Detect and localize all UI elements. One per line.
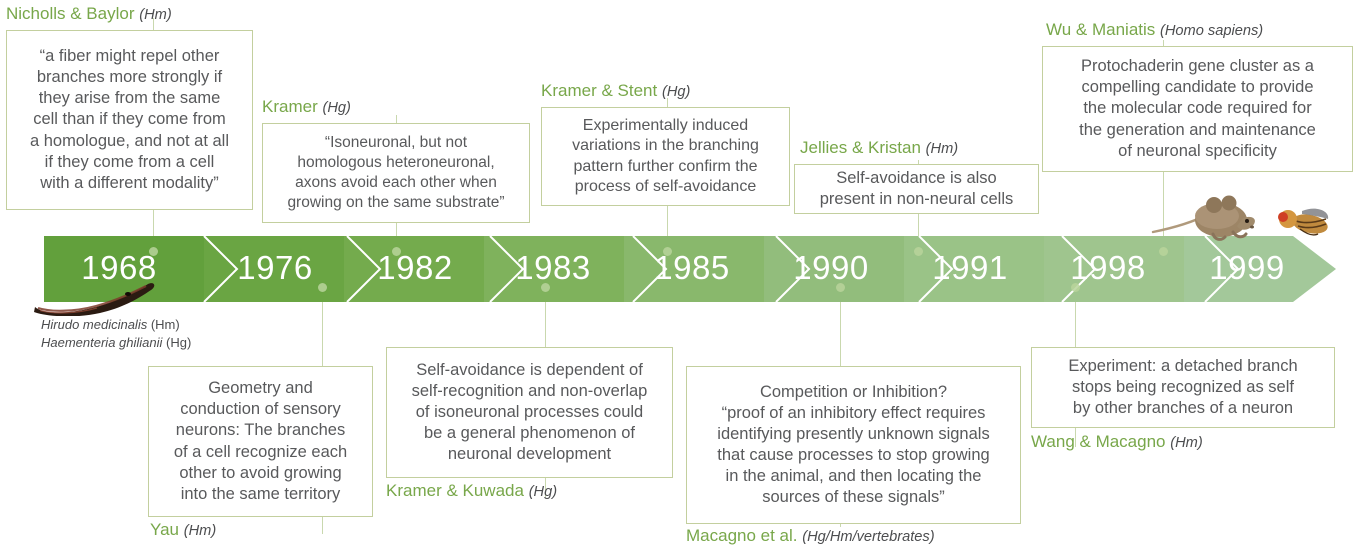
author-species: (Hm) <box>1170 435 1202 451</box>
callout-text: Self-avoidance is dependent of self-reco… <box>387 356 672 470</box>
author-species: (Homo sapiens) <box>1160 23 1263 39</box>
author-label-kramer-stent: Kramer & Stent (Hg) <box>541 82 690 101</box>
author-label-wang-macagno: Wang & Macagno (Hm) <box>1031 433 1203 452</box>
callout-text: Competition or Inhibition? “proof of an … <box>687 378 1020 513</box>
author-label-nicholls-baylor: Nicholls & Baylor (Hm) <box>6 5 172 24</box>
year-label-1999: 1999 <box>1172 236 1322 302</box>
species-legend: Hirudo medicinalis (Hm) Haementeria ghil… <box>41 316 191 351</box>
species-name-haementeria: Haementeria ghilianii <box>41 335 162 350</box>
callout-wu-maniatis-1999[interactable]: Protochaderin gene cluster as a compelli… <box>1042 46 1353 172</box>
year-label-1983: 1983 <box>478 236 628 302</box>
year-label-1990: 1990 <box>756 236 906 302</box>
author-label-jellies-kristan: Jellies & Kristan (Hm) <box>800 139 958 158</box>
author-species: (Hg) <box>662 84 690 100</box>
callout-text: “Isoneuronal, but not homologous heteron… <box>263 129 529 216</box>
leech-image <box>30 281 160 316</box>
fruit-fly-image <box>1272 205 1334 241</box>
author-label-wu-maniatis: Wu & Maniatis (Homo sapiens) <box>1046 21 1263 40</box>
callout-text: Self-avoidance is also present in non-ne… <box>795 164 1038 214</box>
author-species: (Hm) <box>184 523 216 539</box>
mouse-image <box>1151 192 1261 244</box>
callout-yau-1976[interactable]: Geometry and conduction of sensory neuro… <box>148 366 373 517</box>
year-label-1976: 1976 <box>200 236 350 302</box>
author-name: Wu & Maniatis <box>1046 20 1155 39</box>
author-name: Kramer & Stent <box>541 81 657 100</box>
species-abbr-hg: (Hg) <box>166 335 191 350</box>
callout-text: Experimentally induced variations in the… <box>542 112 789 202</box>
author-name: Wang & Macagno <box>1031 432 1166 451</box>
callout-text: Experiment: a detached branch stops bein… <box>1032 352 1334 423</box>
author-species: (Hg/Hm/vertebrates) <box>802 529 934 545</box>
author-name: Jellies & Kristan <box>800 138 921 157</box>
callout-macagno-1990[interactable]: Competition or Inhibition? “proof of an … <box>686 366 1021 524</box>
callout-kramer-1982[interactable]: “Isoneuronal, but not homologous heteron… <box>262 123 530 223</box>
species-legend-line-2: Haementeria ghilianii (Hg) <box>41 334 191 352</box>
callout-jellies-kristan-1991[interactable]: Self-avoidance is also present in non-ne… <box>794 164 1039 214</box>
callout-text: “a fiber might repel other branches more… <box>7 42 252 198</box>
year-label-1991: 1991 <box>895 236 1045 302</box>
species-abbr-hm: (Hm) <box>151 317 180 332</box>
author-label-kramer: Kramer (Hg) <box>262 98 351 117</box>
author-name: Kramer & Kuwada <box>386 481 524 500</box>
callout-text: Protochaderin gene cluster as a compelli… <box>1043 52 1352 166</box>
author-label-kramer-kuwada: Kramer & Kuwada (Hg) <box>386 482 557 501</box>
year-label-1982: 1982 <box>340 236 490 302</box>
author-name: Nicholls & Baylor <box>6 4 135 23</box>
author-name: Yau <box>150 520 179 539</box>
author-name: Macagno et al. <box>686 526 798 545</box>
author-species: (Hm) <box>139 7 171 23</box>
species-name-hirudo: Hirudo medicinalis <box>41 317 147 332</box>
author-name: Kramer <box>262 97 318 116</box>
timeline-figure: 1968 1976 1982 1983 1985 1990 1991 1998 … <box>0 0 1357 553</box>
author-label-macagno: Macagno et al. (Hg/Hm/vertebrates) <box>686 527 935 546</box>
callout-kramer-stent-1985[interactable]: Experimentally induced variations in the… <box>541 107 790 206</box>
author-species: (Hm) <box>926 141 958 157</box>
callout-text: Geometry and conduction of sensory neuro… <box>149 374 372 509</box>
year-label-1985: 1985 <box>617 236 767 302</box>
callout-nicholls-baylor-1968[interactable]: “a fiber might repel other branches more… <box>6 30 253 210</box>
year-label-1998: 1998 <box>1033 236 1183 302</box>
author-species: (Hg) <box>322 100 350 116</box>
species-legend-line-1: Hirudo medicinalis (Hm) <box>41 316 191 334</box>
callout-wang-macagno-1998[interactable]: Experiment: a detached branch stops bein… <box>1031 347 1335 428</box>
callout-kramer-kuwada-1983[interactable]: Self-avoidance is dependent of self-reco… <box>386 347 673 478</box>
author-label-yau: Yau (Hm) <box>150 521 216 540</box>
author-species: (Hg) <box>529 484 557 500</box>
